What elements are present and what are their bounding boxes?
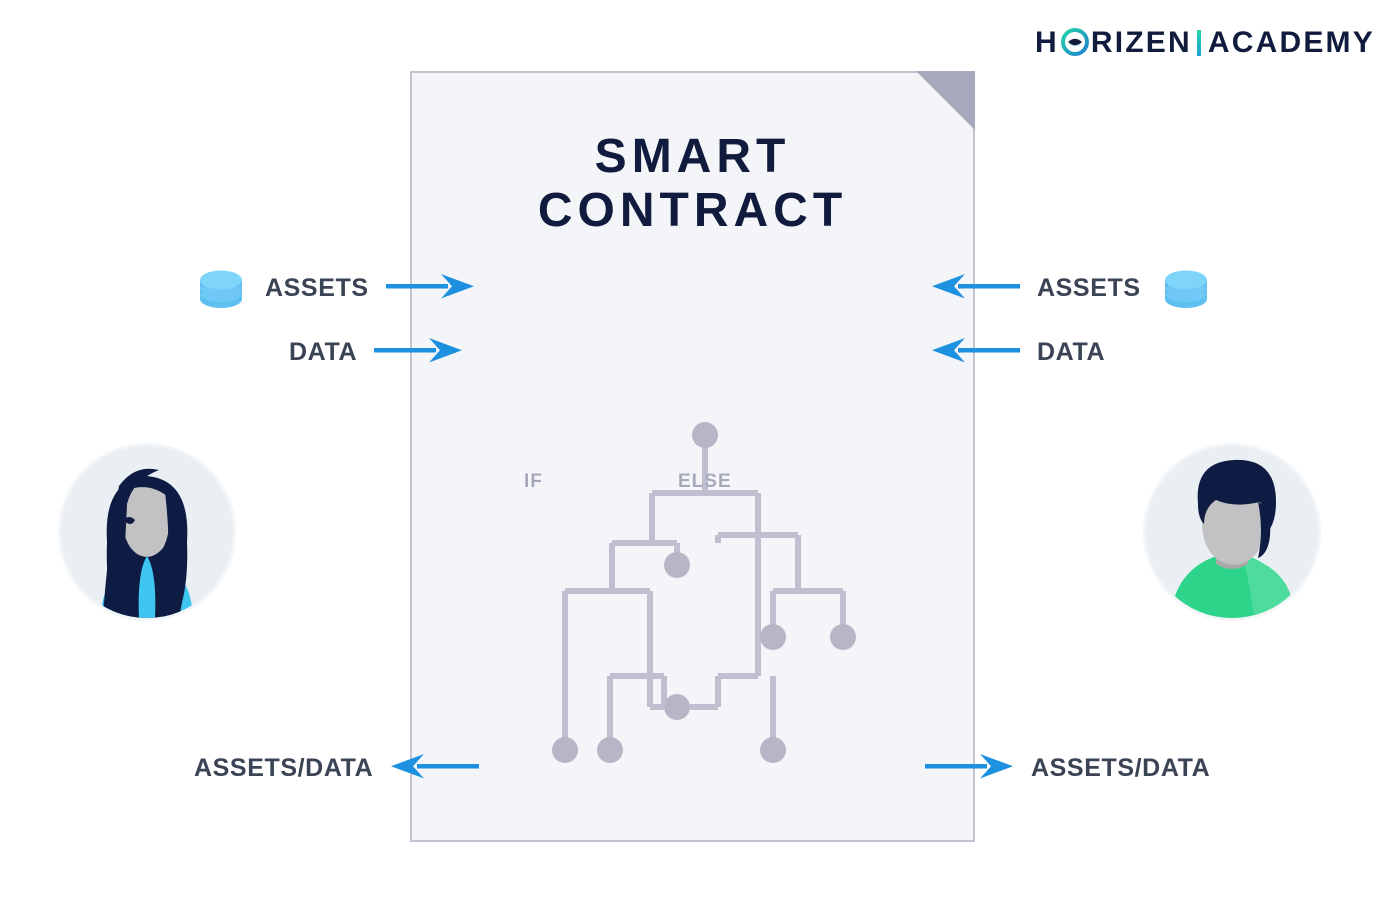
flow-left-assets: ASSETS <box>196 270 476 306</box>
flow-label-left-assets: ASSETS <box>265 276 369 301</box>
diagram-canvas: H RIZENACADEMY SMART CONTRACT <box>0 0 1384 917</box>
horizen-circle-logo-icon <box>1060 27 1090 57</box>
tree-node-leaf-3 <box>760 737 786 763</box>
flow-bottom-right-out: ASSETS/DATA <box>925 750 1210 786</box>
tree-node-leaf-1 <box>552 737 578 763</box>
arrow-left-icon <box>930 270 1020 307</box>
arrow-right-icon <box>925 750 1015 787</box>
arrow-right-icon <box>386 270 476 307</box>
flow-label-left-data: DATA <box>289 340 357 365</box>
tree-label-else: ELSE <box>678 471 732 493</box>
tree-node-right-b <box>830 624 856 650</box>
flow-label-bottom-right: ASSETS/DATA <box>1031 756 1210 781</box>
tree-node-center <box>664 694 690 720</box>
smart-contract-document: SMART CONTRACT <box>410 71 975 842</box>
decision-tree-graphic: IF ELSE <box>532 343 862 703</box>
flow-label-bottom-left: ASSETS/DATA <box>194 756 373 781</box>
logo-divider-icon <box>1197 30 1201 56</box>
flow-left-data: DATA <box>289 334 464 370</box>
flow-label-right-data: DATA <box>1037 340 1105 365</box>
arrow-left-icon <box>389 750 479 787</box>
tree-node-root <box>692 422 718 448</box>
tree-label-if: IF <box>524 471 543 493</box>
title-line-1: SMART <box>412 130 973 184</box>
document-corner-fold-icon <box>916 71 975 130</box>
title-line-2: CONTRACT <box>412 184 973 238</box>
horizen-academy-logo: H RIZENACADEMY <box>1035 22 1375 62</box>
arrow-right-icon <box>374 334 464 371</box>
coin-stack-icon <box>1161 265 1211 311</box>
tree-node-mid-left <box>664 552 690 578</box>
person-male-avatar <box>1143 443 1321 621</box>
page-title: SMART CONTRACT <box>412 130 973 238</box>
logo-brand-h: H <box>1035 26 1059 59</box>
tree-node-right-a <box>760 624 786 650</box>
arrow-left-icon <box>930 334 1020 371</box>
logo-brand-rest: RIZEN <box>1091 26 1192 59</box>
person-female-avatar <box>58 443 236 621</box>
logo-sub: ACADEMY <box>1208 26 1375 59</box>
logo-wordmark: H RIZENACADEMY <box>1035 27 1375 58</box>
flow-label-right-assets: ASSETS <box>1037 276 1141 301</box>
flow-right-data: DATA <box>930 334 1105 370</box>
flow-right-assets: ASSETS <box>930 270 1211 306</box>
coin-stack-icon <box>196 265 246 311</box>
flow-bottom-left-out: ASSETS/DATA <box>194 750 479 786</box>
tree-node-leaf-2 <box>597 737 623 763</box>
